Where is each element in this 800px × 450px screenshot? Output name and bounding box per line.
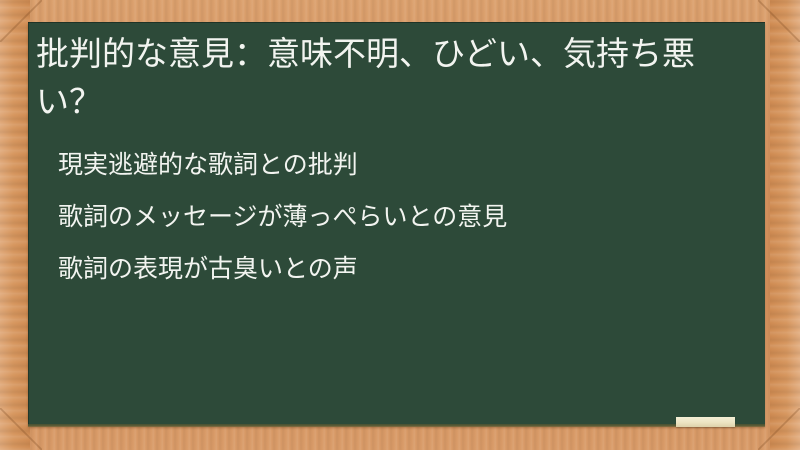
chalk-stick [676, 417, 735, 427]
list-item: 歌詞のメッセージが薄っぺらいとの意見 [58, 204, 748, 229]
slide-content: 批判的な意見：意味不明、ひどい、気持ち悪い？ 現実逃避的な歌詞との批判 歌詞のメ… [28, 22, 765, 426]
list-item: 歌詞の表現が古臭いとの声 [58, 256, 748, 281]
slide-title: 批判的な意見：意味不明、ひどい、気持ち悪い？ [36, 30, 748, 126]
frame-rail-right [770, 0, 800, 450]
list-item: 現実逃避的な歌詞との批判 [58, 152, 748, 177]
slide-bullet-list: 現実逃避的な歌詞との批判 歌詞のメッセージが薄っぺらいとの意見 歌詞の表現が古臭… [58, 152, 748, 308]
frame-rail-left [0, 0, 30, 450]
chalkboard-slide: 批判的な意見：意味不明、ひどい、気持ち悪い？ 現実逃避的な歌詞との批判 歌詞のメ… [0, 0, 800, 450]
